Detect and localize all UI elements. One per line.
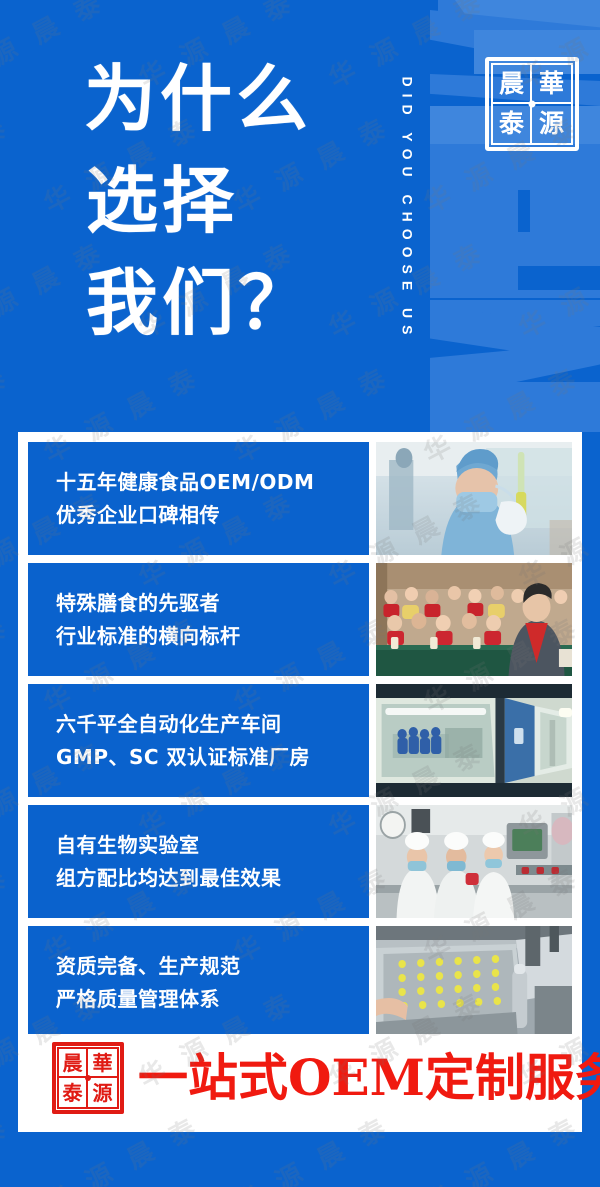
seal-char-3: 泰 bbox=[493, 104, 532, 143]
feature-photo-cleanroom-corridor bbox=[376, 684, 572, 797]
red-seal-char-3: 泰 bbox=[59, 1078, 88, 1107]
feature-line-2: 严格质量管理体系 bbox=[56, 983, 369, 1016]
company-seal-red: 晨 華 泰 源 bbox=[52, 1042, 124, 1114]
page-title: 为什么 选择 我们？ bbox=[84, 48, 314, 354]
company-seal-white: 晨 華 泰 源 bbox=[485, 57, 579, 151]
feature-line-1: 资质完备、生产规范 bbox=[56, 950, 369, 983]
title-line-2: 选择 bbox=[84, 150, 314, 252]
watermark-text: 华 源 晨 泰 bbox=[0, 1107, 17, 1187]
red-seal-center-dot bbox=[85, 1075, 91, 1081]
title-line-3: 我们？ bbox=[84, 252, 314, 354]
feature-card-text: 资质完备、生产规范 严格质量管理体系 bbox=[28, 926, 369, 1039]
feature-line-2: 行业标准的横向标杆 bbox=[56, 620, 369, 653]
feature-line-1: 自有生物实验室 bbox=[56, 829, 369, 862]
feature-line-2: 优秀企业口碑相传 bbox=[56, 499, 369, 532]
feature-card-text: 自有生物实验室 组方配比均达到最佳效果 bbox=[28, 805, 369, 918]
feature-card: 自有生物实验室 组方配比均达到最佳效果 bbox=[28, 805, 572, 918]
feature-card: 资质完备、生产规范 严格质量管理体系 bbox=[28, 926, 572, 1039]
feature-card: 六千平全自动化生产车间 GMP、SC 双认证标准厂房 bbox=[28, 684, 572, 797]
feature-photo-blister-packing-machine bbox=[376, 926, 572, 1039]
feature-line-1: 十五年健康食品OEM/ODM bbox=[56, 466, 369, 499]
feature-line-1: 特殊膳食的先驱者 bbox=[56, 587, 369, 620]
cta-headline: 一站式OEM定制服务 bbox=[138, 1053, 600, 1103]
feature-line-2: 组方配比均达到最佳效果 bbox=[56, 862, 369, 895]
bottom-cta-banner: 晨 華 泰 源 一站式OEM定制服务 bbox=[28, 1034, 572, 1122]
feature-card: 十五年健康食品OEM/ODM 优秀企业口碑相传 bbox=[28, 442, 572, 555]
feature-card-list: 十五年健康食品OEM/ODM 优秀企业口碑相传 bbox=[28, 442, 572, 1039]
vertical-english-text: DID YOU CHOOSE US bbox=[399, 77, 415, 342]
red-seal-char-2: 華 bbox=[88, 1049, 117, 1078]
feature-photo-production-line-staff bbox=[376, 805, 572, 918]
feature-photo-conference-hall bbox=[376, 563, 572, 676]
feature-card-text: 六千平全自动化生产车间 GMP、SC 双认证标准厂房 bbox=[28, 684, 369, 797]
feature-line-1: 六千平全自动化生产车间 bbox=[56, 708, 369, 741]
feature-card-text: 特殊膳食的先驱者 行业标准的横向标杆 bbox=[28, 563, 369, 676]
red-seal-char-1: 晨 bbox=[59, 1049, 88, 1078]
watermark-text: 华 源 晨 泰 bbox=[0, 857, 17, 971]
seal-char-1: 晨 bbox=[493, 65, 532, 104]
seal-center-dot bbox=[529, 101, 536, 108]
title-line-1: 为什么 bbox=[84, 48, 314, 150]
features-panel: 十五年健康食品OEM/ODM 优秀企业口碑相传 bbox=[18, 432, 582, 1132]
feature-line-2: GMP、SC 双认证标准厂房 bbox=[56, 741, 369, 774]
feature-card-text: 十五年健康食品OEM/ODM 优秀企业口碑相传 bbox=[28, 442, 369, 555]
seal-char-2: 華 bbox=[532, 65, 571, 104]
vertical-english-tagline: DID YOU CHOOSE US bbox=[393, 18, 421, 400]
red-seal-char-4: 源 bbox=[88, 1078, 117, 1107]
hero-section: 为什么 选择 我们？ DID YOU CHOOSE US 晨 華 泰 源 bbox=[0, 0, 600, 432]
seal-char-4: 源 bbox=[532, 104, 571, 143]
feature-card: 特殊膳食的先驱者 行业标准的横向标杆 bbox=[28, 563, 572, 676]
watermark-text: 华 源 晨 泰 bbox=[0, 607, 17, 721]
feature-photo-lab-technician bbox=[376, 442, 572, 555]
